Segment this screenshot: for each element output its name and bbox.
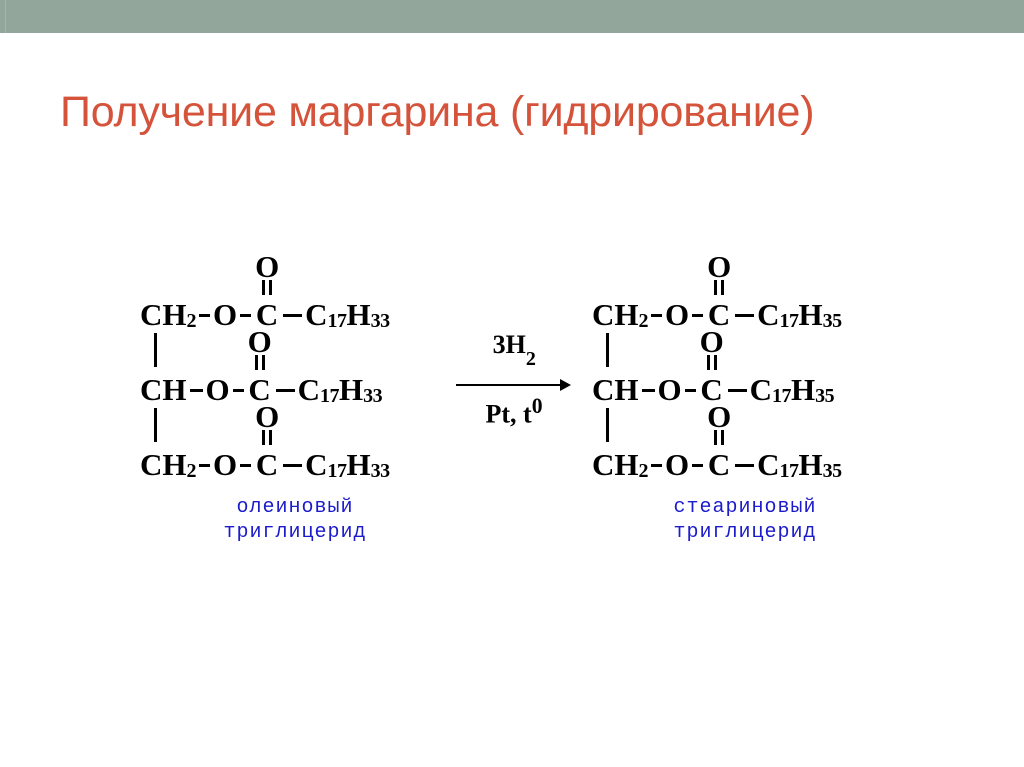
- chain-hydrogen: H: [791, 372, 815, 408]
- chain-hydrogen: H: [799, 297, 823, 333]
- carbonyl-oxygen: O: [247, 326, 273, 357]
- double-bond-icon: [713, 280, 725, 295]
- bond: [685, 389, 696, 392]
- chain-carbon: C: [750, 372, 772, 408]
- bond: [692, 464, 703, 467]
- bond: [735, 314, 754, 317]
- carbonyl-oxygen: O: [706, 401, 732, 432]
- backbone-subscript: 2: [639, 460, 649, 483]
- chain-carbon: C: [305, 297, 327, 333]
- ester-oxygen: O: [665, 297, 689, 333]
- arrow-head-icon: [560, 379, 571, 391]
- bond: [728, 389, 747, 392]
- reaction-scheme: CH2 O O C C17H33 CH O O C C17H33: [0, 255, 1024, 565]
- backbone-atom: CH: [592, 447, 639, 483]
- chain-hydrogen: H: [347, 447, 371, 483]
- bond: [276, 389, 295, 392]
- chain-hydrogen: H: [799, 447, 823, 483]
- carbonyl-carbon: C: [708, 447, 730, 483]
- catalyst-text: Pt, t: [485, 400, 531, 429]
- double-bond-icon: [706, 355, 718, 370]
- chain-hydrogen-count: 33: [363, 385, 382, 408]
- bond: [651, 314, 662, 317]
- chain-hydrogen-count: 35: [815, 385, 834, 408]
- backbone-bond-1: [154, 333, 157, 367]
- carbonyl-oxygen: O: [706, 251, 732, 282]
- chain-hydrogen-count: 33: [371, 310, 390, 333]
- chain-carbon: C: [305, 447, 327, 483]
- catalyst-label: Pt, t0: [452, 394, 576, 430]
- double-bond-icon: [713, 430, 725, 445]
- reagent-label: 3H2: [452, 330, 576, 365]
- reactant-caption-line-1: олеиновый: [130, 495, 460, 520]
- carbonyl-oxygen: O: [254, 251, 280, 282]
- chain-carbon: C: [298, 372, 320, 408]
- chain-carbon-count: 17: [780, 460, 799, 483]
- double-bond-icon: [261, 430, 273, 445]
- double-bond-icon: [254, 355, 266, 370]
- reactant-caption-line-2: триглицерид: [130, 520, 460, 545]
- chain-hydrogen: H: [339, 372, 363, 408]
- chain-carbon-count: 17: [320, 385, 339, 408]
- reaction-arrow: 3H2 Pt, t0: [452, 330, 576, 440]
- band-hairline: [5, 0, 6, 33]
- bond: [283, 314, 302, 317]
- chain-hydrogen: H: [347, 297, 371, 333]
- chain-carbon-count: 17: [772, 385, 791, 408]
- bond: [190, 389, 203, 392]
- backbone-atom: CH: [140, 447, 187, 483]
- bond: [233, 389, 244, 392]
- product-chain-row-3: CH2 O O C C17H35: [592, 443, 842, 487]
- catalyst-superscript: 0: [532, 394, 543, 418]
- reagent-text: 3H: [493, 330, 526, 359]
- arrow-shaft: [456, 384, 564, 386]
- product-caption-line-2: триглицерид: [580, 520, 910, 545]
- bond: [199, 314, 210, 317]
- backbone-subscript: 2: [187, 460, 197, 483]
- chain-hydrogen-count: 33: [371, 460, 390, 483]
- backbone-atom: CH: [592, 297, 639, 333]
- bond: [240, 314, 251, 317]
- carbonyl-group: O C: [254, 447, 280, 483]
- reactant-caption: олеиновый триглицерид: [130, 495, 460, 545]
- bond: [735, 464, 754, 467]
- backbone-bond-2: [154, 408, 157, 442]
- bond: [283, 464, 302, 467]
- backbone-atom: CH: [592, 372, 639, 408]
- reactant-chain-row-3: CH2 O O C C17H33: [140, 443, 390, 487]
- ester-oxygen: O: [658, 372, 682, 408]
- bond: [692, 314, 703, 317]
- chain-carbon-count: 17: [780, 310, 799, 333]
- bond: [199, 464, 210, 467]
- chain-hydrogen-count: 35: [823, 460, 842, 483]
- bond: [240, 464, 251, 467]
- ester-oxygen: O: [665, 447, 689, 483]
- reagent-subscript: 2: [526, 348, 536, 370]
- carbonyl-group: O C: [706, 447, 732, 483]
- backbone-bond-2: [606, 408, 609, 442]
- bond: [651, 464, 662, 467]
- carbonyl-oxygen: O: [699, 326, 725, 357]
- chain-carbon: C: [757, 447, 779, 483]
- chain-carbon: C: [757, 297, 779, 333]
- backbone-atom: CH: [140, 297, 187, 333]
- product-caption-line-1: стеариновый: [580, 495, 910, 520]
- product-caption: стеариновый триглицерид: [580, 495, 910, 545]
- carbonyl-carbon: C: [256, 447, 278, 483]
- backbone-bond-1: [606, 333, 609, 367]
- carbonyl-oxygen: O: [254, 401, 280, 432]
- ester-oxygen: O: [206, 372, 230, 408]
- header-band: [0, 0, 1024, 33]
- bond: [642, 389, 655, 392]
- double-bond-icon: [261, 280, 273, 295]
- page-title: Получение маргарина (гидрирование): [60, 86, 960, 138]
- chain-carbon-count: 17: [328, 310, 347, 333]
- ester-oxygen: O: [213, 447, 237, 483]
- backbone-atom: CH: [140, 372, 187, 408]
- backbone-subscript: 2: [187, 310, 197, 333]
- ester-oxygen: O: [213, 297, 237, 333]
- chain-hydrogen-count: 35: [823, 310, 842, 333]
- backbone-subscript: 2: [639, 310, 649, 333]
- chain-carbon-count: 17: [328, 460, 347, 483]
